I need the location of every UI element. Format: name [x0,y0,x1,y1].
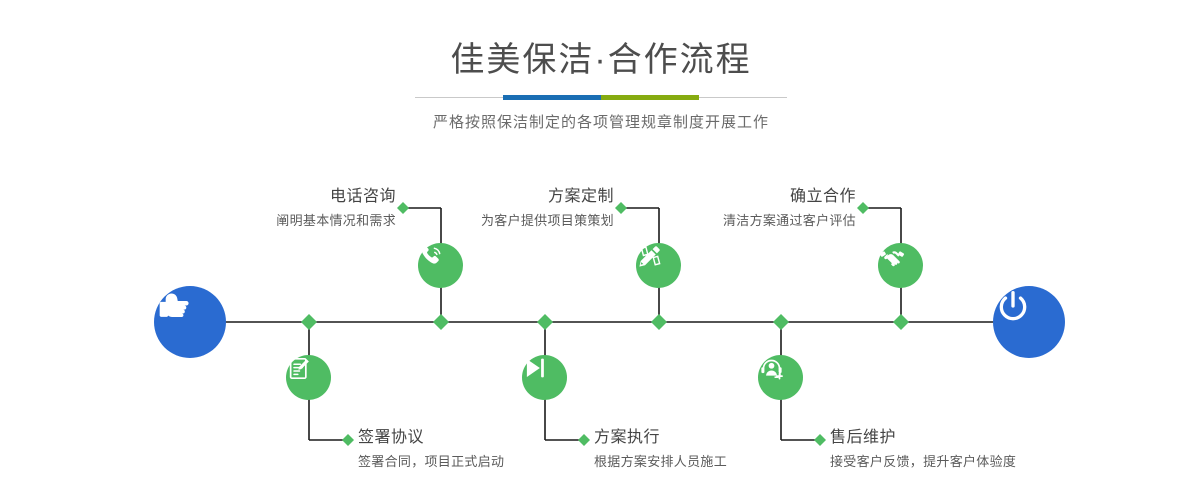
label-diamond-2 [342,434,354,446]
pencil-ruler-icon [636,243,663,270]
step-desc-1: 阐明基本情况和需求 [150,211,396,231]
step-label-5: 确立合作 清洁方案通过客户评估 [610,186,856,231]
step-node-1[interactable] [418,243,463,288]
step-node-4[interactable] [522,355,567,400]
step-node-2[interactable] [286,355,331,400]
step-label-6: 售后维护 接受客户反馈，提升客户体验度 [830,427,1150,472]
document-pencil-icon [286,355,313,382]
handshake-icon [878,243,906,271]
spine-diamond-3 [651,314,667,330]
spine-diamond-6 [773,314,789,330]
step-title-6: 售后维护 [830,427,1150,449]
step-desc-6: 接受客户反馈，提升客户体验度 [830,452,1150,472]
end-node[interactable] [993,286,1065,358]
start-node[interactable] [154,286,226,358]
phone-call-icon [418,243,445,270]
power-icon [993,286,1033,326]
step-label-3: 方案定制 为客户提供项目策策划 [368,186,614,231]
flow-diagram: 电话咨询 阐明基本情况和需求 方案定制 为客户提供项目策策划 确立合作 清洁方案… [0,0,1202,502]
label-diamond-markers [342,202,869,446]
step-node-3[interactable] [636,243,681,288]
step-title-5: 确立合作 [610,186,856,208]
step-node-5[interactable] [878,243,923,288]
step-title-3: 方案定制 [368,186,614,208]
spine-diamond-4 [537,314,553,330]
play-skip-icon [522,355,548,381]
spine-diamond-1 [433,314,449,330]
step-label-1: 电话咨询 阐明基本情况和需求 [150,186,396,231]
spine-diamond-5 [893,314,909,330]
spine-diamond-2 [301,314,317,330]
label-diamond-5 [857,202,869,214]
step-title-1: 电话咨询 [150,186,396,208]
step-desc-3: 为客户提供项目策策划 [368,211,614,231]
step-node-6[interactable] [758,355,803,400]
customer-support-add-icon [758,355,785,382]
thumbs-up-pointing-hand-icon [154,286,194,326]
step-desc-5: 清洁方案通过客户评估 [610,211,856,231]
process-flow-infographic: 佳美保洁·合作流程 严格按照保洁制定的各项管理规章制度开展工作 [0,0,1202,502]
